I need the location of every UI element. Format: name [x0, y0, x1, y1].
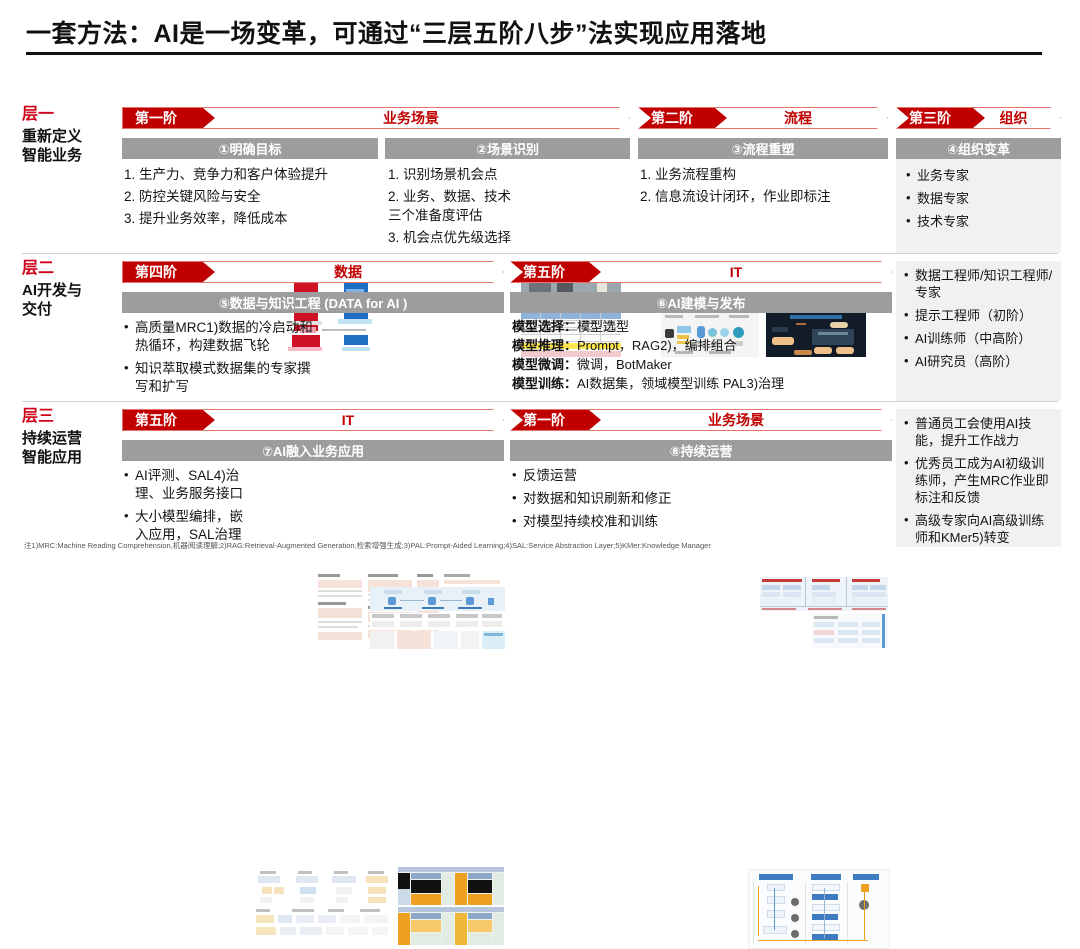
stage-banner-2-1[interactable]: 第四阶 数据	[122, 261, 504, 283]
layer-label-1: 层一 重新定义 智能业务	[22, 105, 117, 165]
thumbnail-blue-flow	[370, 587, 505, 611]
list-item: 提示工程师（初阶）	[904, 307, 1055, 324]
card-list-8: 反馈运营 对数据和知识刷新和修正 对模型持续校准和训练	[512, 467, 742, 531]
row-divider-2	[22, 401, 1058, 402]
slide-root: 一套方法：AI是一场变革，可通过“三层五阶八步”法实现应用落地 层一 重新定义 …	[0, 0, 1080, 548]
right-list-1: 业务专家 数据专家 技术专家	[906, 167, 1053, 230]
list-item: 1. 业务流程重构	[640, 165, 890, 184]
card-header-3: ③流程重塑	[638, 138, 888, 159]
def-item: 模型微调：微调，BotMaker	[512, 355, 782, 374]
right-column-2: 数据工程师/知识工程师/专家 提示工程师（初阶） AI训练师（中高阶） AI研究…	[896, 261, 1061, 401]
card-body-2: 1. 识别场景机会点 2. 业务、数据、技术三个准备度评估 3. 机会点优先级选…	[388, 165, 518, 250]
list-item: 2. 防控关键风险与安全	[124, 187, 374, 206]
stage-banner-1-2[interactable]: 第二阶 流程	[638, 107, 888, 129]
def-label: 模型微调：	[512, 357, 577, 372]
list-item: 对数据和知识刷新和修正	[512, 490, 742, 508]
def-value: AI数据集，领域模型训练 PAL3)治理	[577, 376, 784, 391]
card-list-7: AI评测、SAL4)治理、业务服务接口 大小模型编排，嵌入应用，SAL治理	[124, 467, 252, 544]
card-header-5: ⑤数据与知识工程 (DATA for AI )	[122, 292, 504, 313]
right-list-3: 普通员工会使用AI技能，提升工作战力 优秀员工成为AI初级训练师，产生MRC作业…	[904, 415, 1055, 546]
list-item: 技术专家	[906, 213, 1053, 230]
layer-name-line2: 交付	[22, 300, 117, 319]
thumbnail-doc-col-1	[316, 572, 364, 642]
list-item: 反馈运营	[512, 467, 742, 485]
layer-name-line2: 智能应用	[22, 448, 117, 467]
thumbnail-matrix-bottom	[398, 907, 504, 945]
stage-badge: 第二阶	[639, 108, 727, 128]
def-value: Prompt，RAG2)，编排组合	[577, 338, 737, 353]
layer-name-line1: 重新定义	[22, 127, 117, 146]
def-item: 模型推理：Prompt，RAG2)，编排组合	[512, 336, 782, 355]
card-list-1: 1. 生产力、竞争力和客户体验提升 2. 防控关键风险与安全 3. 提升业务效率…	[124, 165, 374, 228]
stage-badge: 第五阶	[511, 262, 601, 282]
list-item: 数据工程师/知识工程师/专家	[904, 267, 1055, 301]
list-item: AI训练师（中高阶）	[904, 330, 1055, 347]
list-item: 2. 业务、数据、技术三个准备度评估	[388, 187, 518, 225]
list-item: 3. 提升业务效率，降低成本	[124, 209, 374, 228]
card-header-7: ⑦AI融入业务应用	[122, 440, 504, 461]
thumbnail-arch-diagram-2	[812, 614, 888, 648]
list-item: 大小模型编排，嵌入应用，SAL治理	[124, 508, 252, 544]
card-body-8: 反馈运营 对数据和知识刷新和修正 对模型持续校准和训练	[512, 467, 742, 536]
definition-list: 模型选择：模型选型 模型推理：Prompt，RAG2)，编排组合 模型微调：微调…	[512, 317, 782, 393]
thumbnail-model-orchestration	[252, 869, 392, 941]
def-item: 模型选择：模型选型	[512, 317, 782, 336]
title-underline	[26, 52, 1042, 55]
footnote: 注1)MRC:Machine Reading Comprehension,机器阅…	[24, 540, 711, 551]
layer-label-2: 层二 AI开发与 交付	[22, 259, 117, 319]
card-body-7: AI评测、SAL4)治理、业务服务接口 大小模型编排，嵌入应用，SAL治理	[124, 467, 252, 549]
stage-badge: 第一阶	[123, 108, 215, 128]
card-header-4: ④组织变革	[896, 138, 1061, 159]
card-header-8: ⑧持续运营	[510, 440, 892, 461]
layer-tag: 层三	[22, 407, 117, 427]
def-label: 模型选择：	[512, 319, 577, 334]
list-item: 1. 生产力、竞争力和客户体验提升	[124, 165, 374, 184]
card-body-6: 模型选择：模型选型 模型推理：Prompt，RAG2)，编排组合 模型微调：微调…	[512, 317, 782, 393]
card-header-1: ①明确目标	[122, 138, 378, 159]
page-title: 一套方法：AI是一场变革，可通过“三层五阶八步”法实现应用落地	[26, 14, 767, 50]
layer-name-line1: 持续运营	[22, 429, 117, 448]
stage-banner-3-2[interactable]: 第一阶 业务场景	[510, 409, 892, 431]
card-header-6: ⑥AI建模与发布	[510, 292, 892, 313]
card-list-2: 1. 识别场景机会点 2. 业务、数据、技术三个准备度评估 3. 机会点优先级选…	[388, 165, 518, 247]
card-list-5: 高质量MRC1)数据的冷启动和热循环，构建数据飞轮 知识萃取模式数据集的专家撰写…	[124, 319, 318, 396]
list-item: 高质量MRC1)数据的冷启动和热循环，构建数据飞轮	[124, 319, 318, 355]
thumbnail-process-flow	[748, 869, 890, 949]
layer-row-2: 层二 AI开发与 交付 第四阶 数据 ⑤数据与知识工程 (DATA for AI…	[0, 259, 1080, 401]
list-item: 3. 机会点优先级选择	[388, 228, 518, 247]
def-value: 模型选型	[577, 319, 629, 334]
stage-badge: 第三阶	[897, 108, 985, 128]
list-item: AI评测、SAL4)治理、业务服务接口	[124, 467, 252, 503]
layer-tag: 层一	[22, 105, 117, 125]
stage-banner-1-3[interactable]: 第三阶 组织	[896, 107, 1061, 129]
def-item: 模型训练：AI数据集，领域模型训练 PAL3)治理	[512, 374, 782, 393]
stage-banner-2-2[interactable]: 第五阶 IT	[510, 261, 892, 283]
stage-badge: 第五阶	[123, 410, 215, 430]
list-item: 优秀员工成为AI初级训练师，产生MRC作业即标注和反馈	[904, 455, 1055, 506]
thumbnail-matrix-top	[398, 867, 504, 905]
thumbnail-arch-diagram-1	[760, 577, 888, 611]
stage-badge: 第一阶	[511, 410, 601, 430]
right-list-2: 数据工程师/知识工程师/专家 提示工程师（初阶） AI训练师（中高阶） AI研究…	[904, 267, 1055, 370]
card-header-2: ②场景识别	[385, 138, 630, 159]
list-item: 业务专家	[906, 167, 1053, 184]
card-body-3: 1. 业务流程重构 2. 信息流设计闭环，作业即标注	[640, 165, 890, 209]
stage-banner-3-1[interactable]: 第五阶 IT	[122, 409, 504, 431]
layer-label-3: 层三 持续运营 智能应用	[22, 407, 117, 467]
thumbnail-tile-row-2	[370, 631, 505, 649]
card-body-1: 1. 生产力、竞争力和客户体验提升 2. 防控关键风险与安全 3. 提升业务效率…	[124, 165, 374, 231]
list-item: 普通员工会使用AI技能，提升工作战力	[904, 415, 1055, 449]
list-item: 数据专家	[906, 190, 1053, 207]
def-label: 模型训练：	[512, 376, 577, 391]
list-item: AI研究员（高阶）	[904, 353, 1055, 370]
card-body-5: 高质量MRC1)数据的冷启动和热循环，构建数据飞轮 知识萃取模式数据集的专家撰写…	[124, 319, 318, 401]
row-divider-1	[22, 253, 1058, 254]
layer-row-1: 层一 重新定义 智能业务 第一阶 业务场景 ①明确目标 1. 生产力、竞争力和客…	[0, 105, 1080, 253]
layer-name-line2: 智能业务	[22, 146, 117, 165]
layer-tag: 层二	[22, 259, 117, 279]
list-item: 1. 识别场景机会点	[388, 165, 518, 184]
stage-banner-1-1[interactable]: 第一阶 业务场景	[122, 107, 630, 129]
right-column-3: 普通员工会使用AI技能，提升工作战力 优秀员工成为AI初级训练师，产生MRC作业…	[896, 409, 1061, 547]
list-item: 对模型持续校准和训练	[512, 513, 742, 531]
right-column-1: 业务专家 数据专家 技术专家	[896, 159, 1061, 253]
list-item: 知识萃取模式数据集的专家撰写和扩写	[124, 360, 318, 396]
layer-name-line1: AI开发与	[22, 281, 117, 300]
thumbnail-tile-row-1	[370, 613, 505, 629]
layer-row-3: 层三 持续运营 智能应用 第五阶 IT ⑦AI融入业务应用 AI评测、SAL4)…	[0, 407, 1080, 542]
list-item: 2. 信息流设计闭环，作业即标注	[640, 187, 890, 206]
def-value: 微调，BotMaker	[577, 357, 672, 372]
stage-badge: 第四阶	[123, 262, 215, 282]
thumbnail-doc-col-4	[442, 572, 504, 586]
def-label: 模型推理：	[512, 338, 577, 353]
list-item: 高级专家向AI高级训练师和KMer5)转变	[904, 512, 1055, 546]
card-list-3: 1. 业务流程重构 2. 信息流设计闭环，作业即标注	[640, 165, 890, 206]
